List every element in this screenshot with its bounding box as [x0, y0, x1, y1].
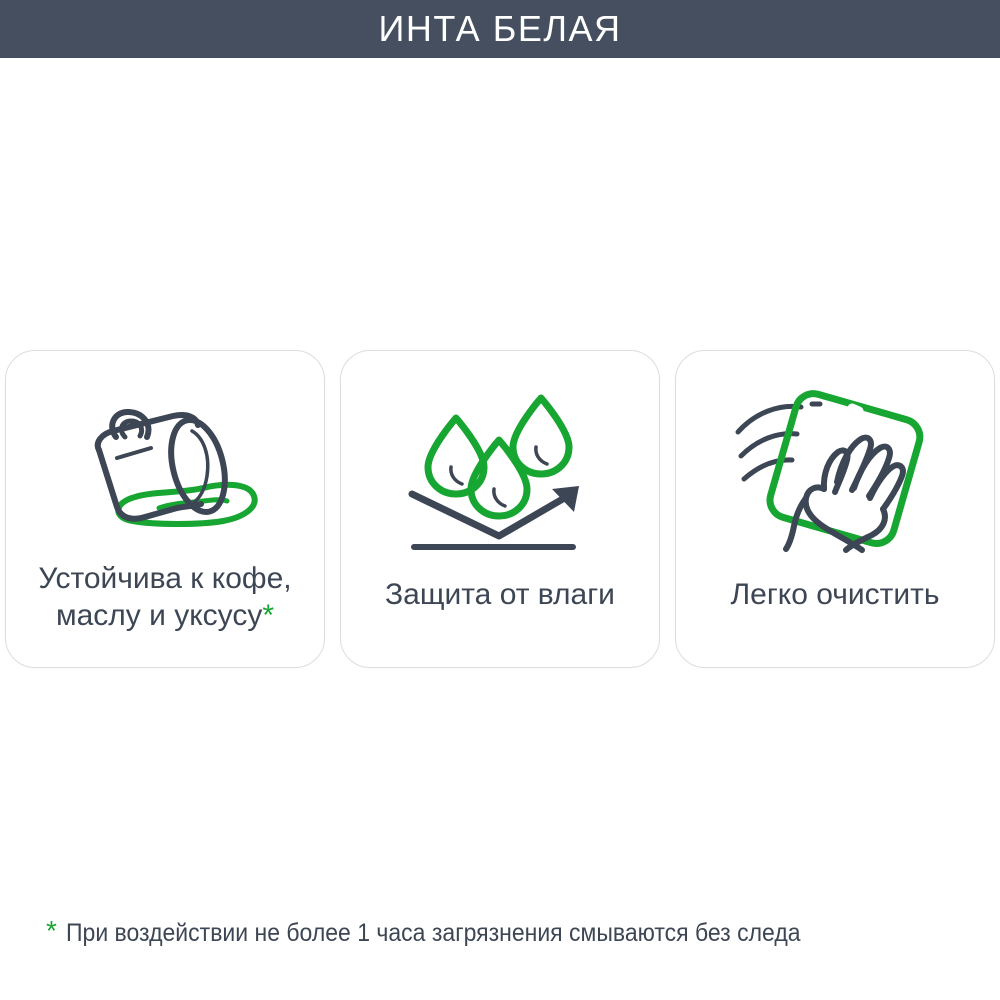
hand-wiping-cloth-icon [720, 385, 950, 555]
feature-card-label-text: Защита от влаги [385, 578, 615, 611]
feature-card-label: Защита от влаги [375, 577, 625, 614]
feature-card-easy-clean[interactable]: Легко очистить [675, 350, 995, 668]
feature-card-label: Устойчива к кофе, маслу и уксусу* [28, 561, 301, 634]
feature-card-coffee-resistance[interactable]: Устойчива к кофе, маслу и уксусу* [5, 350, 325, 668]
spilled-coffee-cup-icon [50, 385, 280, 555]
water-drops-repellent-icon [385, 385, 615, 555]
feature-card-label-text: Легко очистить [730, 578, 939, 611]
feature-card-label: Легко очистить [720, 577, 949, 614]
footnote: * При воздействии не более 1 часа загряз… [46, 918, 864, 948]
header-bar: ИНТА БЕЛАЯ [0, 0, 1000, 58]
feature-cards-row: Устойчива к кофе, маслу и уксусу* [0, 350, 1000, 672]
feature-card-moisture-protection[interactable]: Защита от влаги [340, 350, 660, 668]
footnote-text: При воздействии не более 1 часа загрязне… [66, 918, 801, 948]
footnote-asterisk-icon: * [46, 918, 57, 944]
page-title: ИНТА БЕЛАЯ [379, 11, 622, 47]
feature-card-label-text: Устойчива к кофе, маслу и уксусу [38, 562, 291, 632]
footnote-marker: * [262, 599, 274, 632]
